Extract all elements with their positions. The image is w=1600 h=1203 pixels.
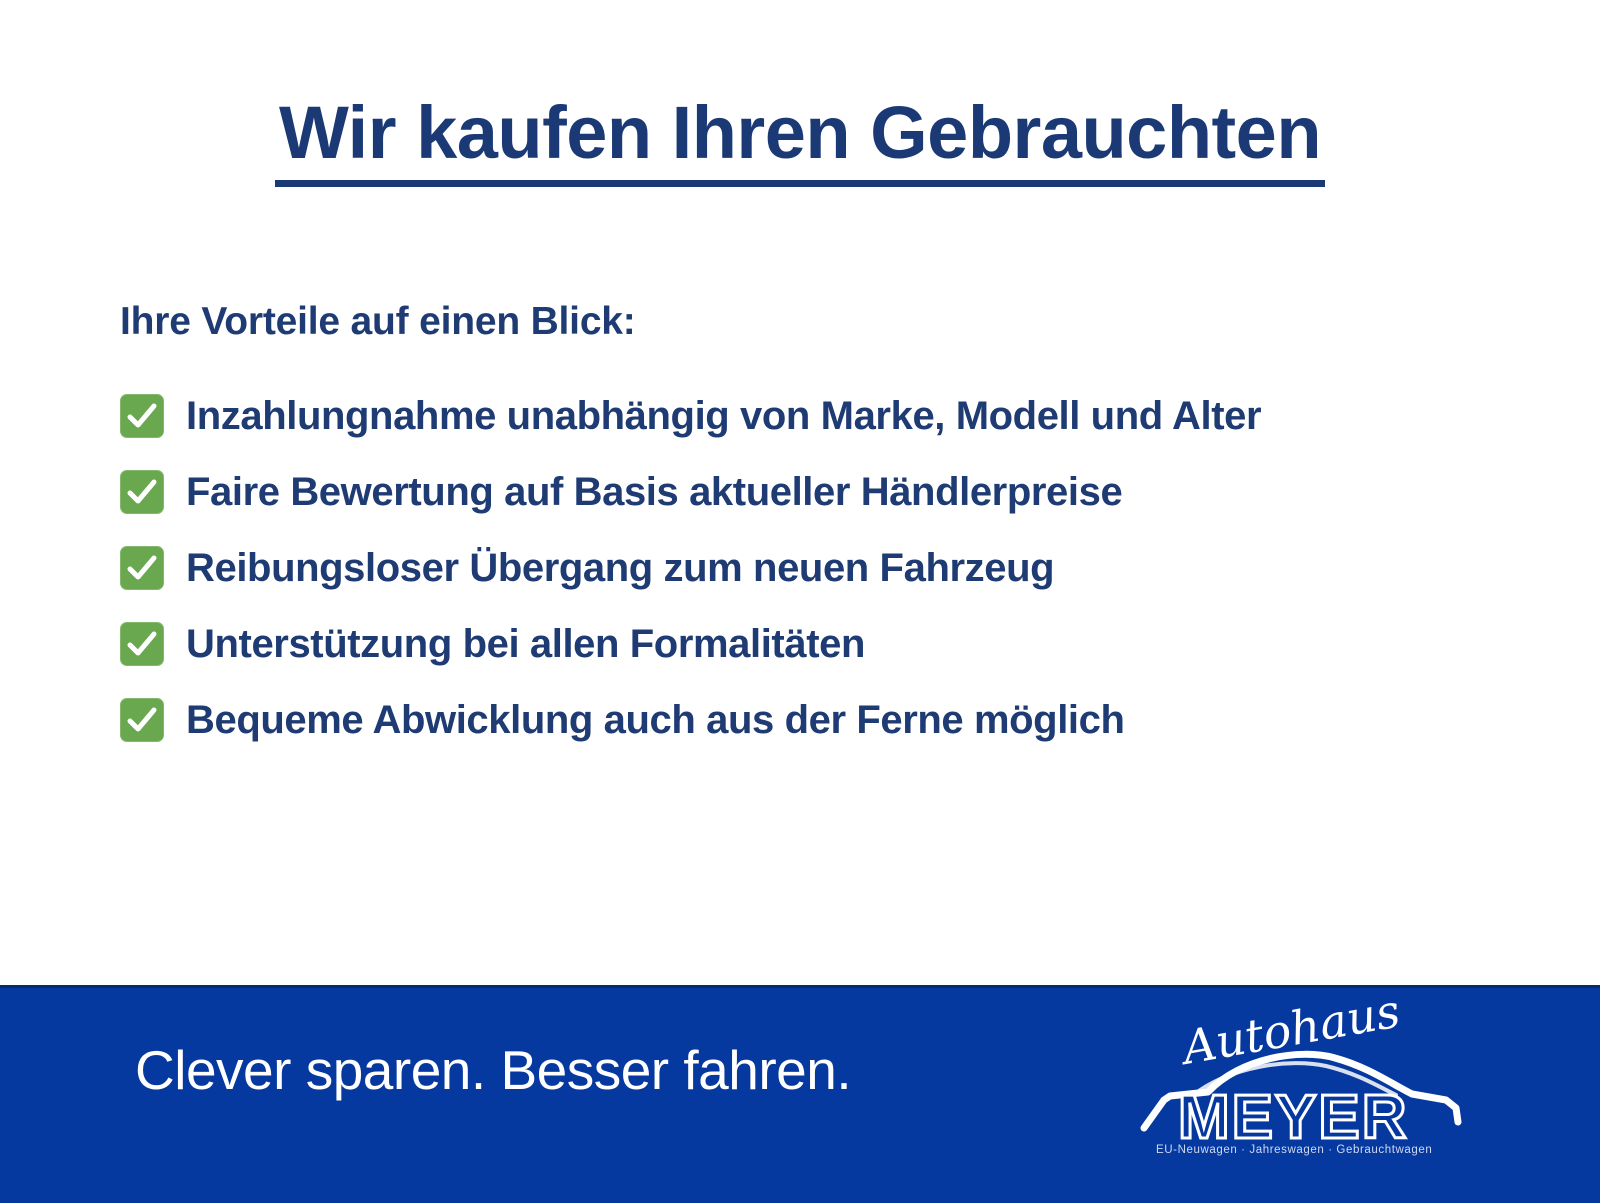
dealer-logo: Autohaus MEYER EU-Neuwagen · Jahreswagen… <box>1130 1000 1470 1160</box>
check-icon <box>120 622 164 666</box>
list-item-label: Unterstützung bei allen Formalitäten <box>186 624 865 664</box>
check-icon <box>120 698 164 742</box>
footer-slogan: Clever sparen. Besser fahren. <box>135 1038 851 1102</box>
check-icon <box>120 470 164 514</box>
logo-tagline: EU-Neuwagen · Jahreswagen · Gebrauchtwag… <box>1156 1144 1432 1156</box>
list-item-label: Reibungsloser Übergang zum neuen Fahrzeu… <box>186 548 1054 588</box>
check-icon <box>120 546 164 590</box>
list-item: Reibungsloser Übergang zum neuen Fahrzeu… <box>120 530 1520 606</box>
list-item: Inzahlungnahme unabhängig von Marke, Mod… <box>120 378 1520 454</box>
flyer-page: Wir kaufen Ihren Gebrauchten Ihre Vortei… <box>0 0 1600 1200</box>
list-item: Unterstützung bei allen Formalitäten <box>120 606 1520 682</box>
list-item-label: Bequeme Abwicklung auch aus der Ferne mö… <box>186 700 1125 740</box>
benefits-intro: Ihre Vorteile auf einen Blick: <box>120 300 636 344</box>
check-icon <box>120 394 164 438</box>
list-item: Faire Bewertung auf Basis aktueller Händ… <box>120 454 1520 530</box>
footer-band: Clever sparen. Besser fahren. Autohaus M… <box>0 985 1600 1203</box>
list-item-label: Faire Bewertung auf Basis aktueller Händ… <box>186 472 1122 512</box>
page-title: Wir kaufen Ihren Gebrauchten <box>275 96 1325 187</box>
benefits-list: Inzahlungnahme unabhängig von Marke, Mod… <box>120 378 1520 758</box>
list-item-label: Inzahlungnahme unabhängig von Marke, Mod… <box>186 396 1261 436</box>
logo-word-text: MEYER <box>1178 1083 1408 1152</box>
list-item: Bequeme Abwicklung auch aus der Ferne mö… <box>120 682 1520 758</box>
headline-block: Wir kaufen Ihren Gebrauchten <box>0 96 1600 187</box>
